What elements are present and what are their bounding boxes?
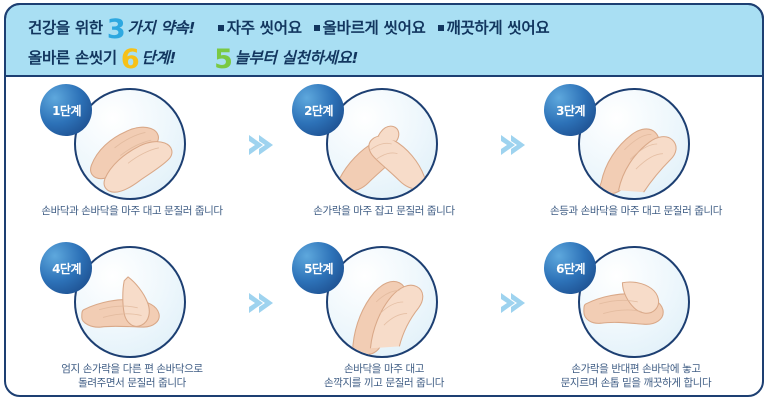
step-6-caption-line-1: 문지르며 손톱 밑을 깨끗하게 합니다 bbox=[510, 376, 762, 390]
header-bullet-list: 자주 씻어요올바르게 씻어요깨끗하게 씻어요 bbox=[218, 16, 562, 38]
step-5-caption: 손바닥을 마주 대고 손깍지를 끼고 문질러 줍니다 bbox=[258, 362, 510, 390]
step-cell-4: 4단계 엄지 손가락을 다른 편 손바닥으로 돌려주면서 문질러 줍니다 bbox=[6, 238, 258, 396]
step-4-caption: 엄지 손가락을 다른 편 손바닥으로 돌려주면서 문질러 줍니다 bbox=[6, 362, 258, 390]
hand-washing-poster: 건강을 위한3가지 약속! 자주 씻어요올바르게 씻어요깨끗하게 씻어요 올바른… bbox=[0, 0, 768, 402]
palm-to-palm-icon bbox=[76, 90, 184, 198]
header-bullet-2: 깨끗하게 씻어요 bbox=[438, 16, 550, 38]
step-1-caption: 손바닥과 손바닥을 마주 대고 문질러 줍니다 bbox=[6, 204, 258, 218]
step-2-caption: 손가락을 마주 잡고 문질러 줍니다 bbox=[258, 204, 510, 218]
header-line2-suffix: 단계! bbox=[141, 49, 176, 67]
step-6-badge-label: 6단계 bbox=[556, 260, 585, 277]
step-cell-6: 6단계 손가락을 반대편 손바닥에 놓고 문지르며 손톱 밑을 깨끗하게 합니다 bbox=[510, 238, 762, 396]
step-4-caption-line-0: 엄지 손가락을 다른 편 손바닥으로 bbox=[6, 362, 258, 376]
step-5-caption-line-1: 손깍지를 끼고 문질러 줍니다 bbox=[258, 376, 510, 390]
step-4-caption-line-1: 돌려주면서 문질러 줍니다 bbox=[6, 376, 258, 390]
step-row-top: 1단계 손바닥과 손바닥을 마주 대고 문질러 줍니다 bbox=[6, 80, 762, 238]
header-bullet-1-label: 올바르게 씻어요 bbox=[323, 19, 426, 37]
header-bullet-2-label: 깨끗하게 씻어요 bbox=[447, 19, 550, 37]
step-3-badge-label: 3단계 bbox=[556, 102, 585, 119]
interlaced-fingers-icon bbox=[328, 248, 436, 356]
step-cell-1: 1단계 손바닥과 손바닥을 마주 대고 문질러 줍니다 bbox=[6, 80, 258, 238]
arrow-right-icon-2 bbox=[498, 132, 528, 158]
step-5-caption-line-0: 손바닥을 마주 대고 bbox=[258, 362, 510, 376]
header-line1-prefix: 건강을 위한 bbox=[28, 19, 103, 37]
step-3-caption-line-0: 손등과 손바닥을 마주 대고 문질러 줍니다 bbox=[510, 204, 762, 218]
step-4-badge-label: 4단계 bbox=[52, 260, 81, 277]
header-line2-tail: 늘부터 실천하세요! bbox=[235, 49, 359, 67]
step-row-bottom: 4단계 엄지 손가락을 다른 편 손바닥으로 돌려주면서 문질러 줍니다 bbox=[6, 238, 762, 396]
header-bullet-0: 자주 씻어요 bbox=[218, 16, 302, 38]
header-line-1: 건강을 위한3가지 약속! 자주 씻어요올바르게 씻어요깨끗하게 씻어요 bbox=[28, 16, 561, 38]
step-3-caption: 손등과 손바닥을 마주 대고 문질러 줍니다 bbox=[510, 204, 762, 218]
arrow-right-icon-4 bbox=[498, 290, 528, 316]
header-line1-suffix: 가지 약속! bbox=[127, 19, 195, 37]
step-6-caption: 손가락을 반대편 손바닥에 놓고 문지르며 손톱 밑을 깨끗하게 합니다 bbox=[510, 362, 762, 390]
step-6-caption-line-0: 손가락을 반대편 손바닥에 놓고 bbox=[510, 362, 762, 376]
step-cell-2: 2단계 손가락을 마주 잡고 문질러 줍니다 bbox=[258, 80, 510, 238]
header-band: 건강을 위한3가지 약속! 자주 씻어요올바르게 씻어요깨끗하게 씻어요 올바른… bbox=[4, 3, 764, 77]
header-number-5: 5 bbox=[214, 52, 233, 68]
thumb-rotate-icon bbox=[76, 248, 184, 356]
step-5-badge-label: 5단계 bbox=[304, 260, 333, 277]
step-1-caption-line-0: 손바닥과 손바닥을 마주 대고 문질러 줍니다 bbox=[6, 204, 258, 218]
header-bullet-1: 올바르게 씻어요 bbox=[314, 16, 426, 38]
square-bullet-icon bbox=[314, 25, 320, 31]
square-bullet-icon bbox=[218, 25, 224, 31]
fingers-interlock-grip-icon bbox=[328, 90, 436, 198]
header-number-6: 6 bbox=[121, 52, 140, 68]
header-line-2: 올바른 손씻기6단계!5늘부터 실천하세요! bbox=[28, 46, 358, 68]
header-bullet-0-label: 자주 씻어요 bbox=[227, 19, 302, 37]
arrow-right-icon-3 bbox=[246, 290, 276, 316]
step-2-badge-label: 2단계 bbox=[304, 102, 333, 119]
back-of-hand-icon bbox=[580, 90, 688, 198]
step-cell-3: 3단계 손등과 손바닥을 마주 대고 문질러 줍니다 bbox=[510, 80, 762, 238]
arrow-right-icon-1 bbox=[246, 132, 276, 158]
step-cell-5: 5단계 손바닥을 마주 대고 손깍지를 끼고 문질러 줍니다 bbox=[258, 238, 510, 396]
step-1-badge-label: 1단계 bbox=[52, 102, 81, 119]
header-number-3: 3 bbox=[107, 22, 126, 38]
nails-on-palm-icon bbox=[580, 248, 688, 356]
header-line2-prefix: 올바른 손씻기 bbox=[28, 49, 117, 67]
step-2-caption-line-0: 손가락을 마주 잡고 문질러 줍니다 bbox=[258, 204, 510, 218]
steps-area: 1단계 손바닥과 손바닥을 마주 대고 문질러 줍니다 bbox=[6, 80, 762, 396]
square-bullet-icon bbox=[438, 25, 444, 31]
